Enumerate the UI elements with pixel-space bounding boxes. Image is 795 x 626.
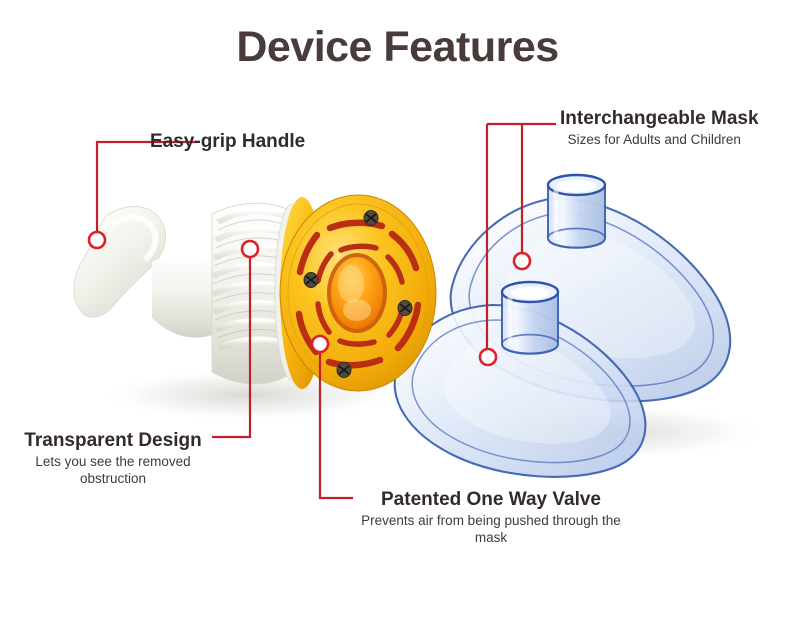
callout-subtitle: Prevents air from being pushed through t… [355,513,627,547]
callout-heading: Easy-grip Handle [150,131,305,153]
screw [364,211,378,226]
screw [337,363,351,378]
screw [304,273,318,288]
screw [398,301,412,316]
callout-heading: Transparent Design [14,430,212,452]
callout-interchangeable-mask: Interchangeable Mask Sizes for Adults an… [560,108,759,149]
infographic-canvas: Device Features Easy-grip Handle Interch… [0,0,795,626]
device-handle [74,207,222,338]
page-title: Device Features [0,24,795,71]
callout-heading: Patented One Way Valve [355,489,627,511]
callout-transparent-design: Transparent Design Lets you see the remo… [14,430,212,488]
callout-subtitle: Lets you see the removed obstruction [14,454,212,488]
valve-cap [280,195,436,391]
callout-one-way-valve: Patented One Way Valve Prevents air from… [355,489,627,547]
callout-easy-grip-handle: Easy-grip Handle [150,131,305,153]
callout-heading: Interchangeable Mask [560,108,759,130]
callout-subtitle: Sizes for Adults and Children [560,132,759,149]
